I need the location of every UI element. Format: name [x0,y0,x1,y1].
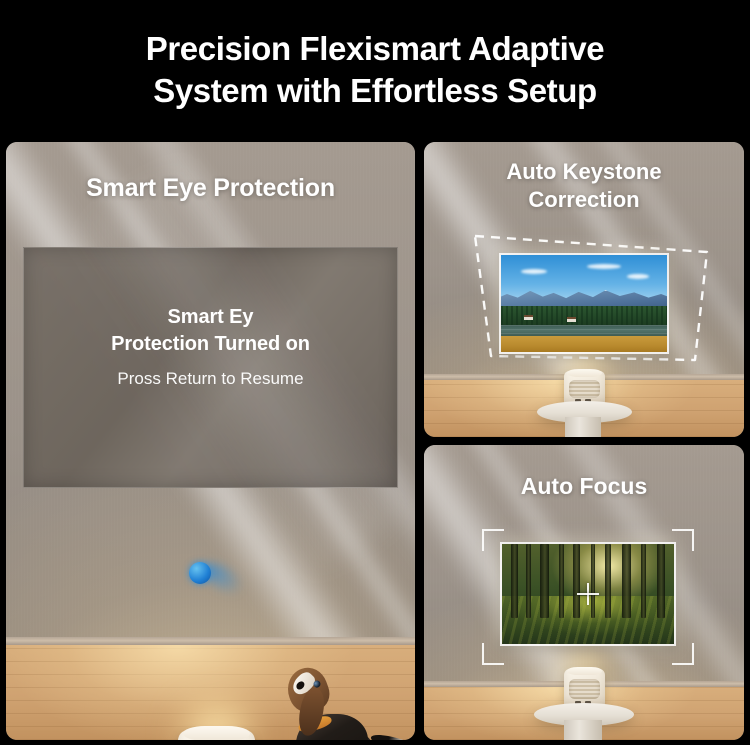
dog-nose [295,680,306,691]
heading-keystone-line-1: Auto Keystone [424,158,744,186]
bracket-bottom-left [482,643,504,665]
title-line-2: System with Effortless Setup [153,70,597,112]
projector-top [183,726,249,740]
osd-message: Smart Ey Protection Turned on Pross Retu… [24,304,397,389]
baseboard [6,637,415,645]
osd-line-1: Smart Ey [24,304,397,331]
golden-meadow [501,336,667,352]
title-line-1: Precision Flexismart Adaptive [146,28,605,70]
page-title: Precision Flexismart Adaptive System wit… [0,0,750,140]
heading-auto-keystone: Auto Keystone Correction [424,158,744,214]
projector-grille [569,679,599,699]
panel-smart-eye-protection: Smart Eye Protection Smart Ey Protection… [6,142,415,740]
heading-smart-eye-protection: Smart Eye Protection [6,174,415,203]
projected-image-autofocus [500,542,676,646]
dimmed-projection-screen: Smart Ey Protection Turned on Pross Retu… [23,247,398,488]
projector-body [178,730,255,740]
heading-auto-focus: Auto Focus [424,473,744,500]
table-pedestal [565,417,601,437]
projector-device [178,730,255,740]
osd-subtext: Pross Return to Resume [24,369,397,389]
projector-top [567,667,602,676]
beagle-puppy [274,662,415,740]
heading-keystone-line-2: Correction [424,186,744,214]
panel-auto-focus: Auto Focus [424,445,744,740]
product-feature-graphic: Precision Flexismart Adaptive System wit… [0,0,750,745]
bracket-bottom-right [672,643,694,665]
projector-top [567,369,602,377]
projector-grille [569,380,599,398]
projected-image-keystone [499,253,669,354]
table-pedestal [564,720,602,740]
focus-crosshair-marker [577,583,599,605]
osd-line-2: Protection Turned on [24,331,397,358]
dog-tail [369,731,415,740]
panel-auto-keystone-correction: Auto Keystone Correction [424,142,744,437]
